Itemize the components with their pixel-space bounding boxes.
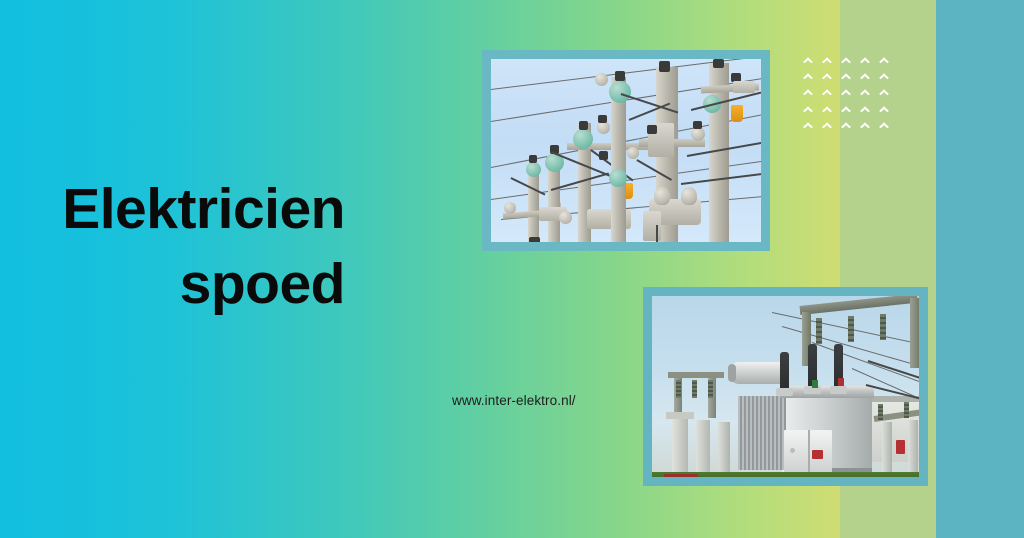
chevron-up-icon [840, 57, 851, 64]
chevron-up-icon [860, 73, 871, 80]
chevron-up-icon [802, 89, 813, 96]
chevron-up-icon [879, 106, 890, 113]
page-title-line-1: Elektricien [60, 172, 345, 247]
chevron-up-icon [821, 106, 832, 113]
chevron-up-icon [821, 89, 832, 96]
chevron-up-icon [879, 57, 890, 64]
chevron-up-icon [879, 122, 890, 129]
photo-substation-transformer [643, 287, 928, 486]
chevron-pattern-decoration [798, 52, 894, 134]
page-title: Elektricien spoed [60, 172, 345, 322]
chevron-up-icon [802, 73, 813, 80]
chevron-up-icon [840, 89, 851, 96]
background-band-teal [936, 0, 1024, 538]
chevron-up-icon [821, 122, 832, 129]
chevron-up-icon [821, 57, 832, 64]
chevron-up-icon [821, 73, 832, 80]
chevron-up-icon [860, 122, 871, 129]
chevron-up-icon [840, 106, 851, 113]
photo-utility-poles-content [491, 59, 761, 242]
chevron-up-icon [860, 89, 871, 96]
website-url[interactable]: www.inter-elektro.nl/ [452, 393, 576, 408]
chevron-up-icon [802, 57, 813, 64]
photo-substation-transformer-content [652, 296, 919, 477]
chevron-up-icon [840, 122, 851, 129]
chevron-up-icon [802, 106, 813, 113]
page-title-line-2: spoed [60, 247, 345, 322]
chevron-up-icon [879, 73, 890, 80]
photo-utility-poles [482, 50, 770, 251]
chevron-up-icon [860, 106, 871, 113]
chevron-up-icon [840, 73, 851, 80]
promo-banner: Elektricien spoed www.inter-elektro.nl/ [0, 0, 1024, 538]
chevron-up-icon [860, 57, 871, 64]
chevron-up-icon [879, 89, 890, 96]
chevron-up-icon [802, 122, 813, 129]
